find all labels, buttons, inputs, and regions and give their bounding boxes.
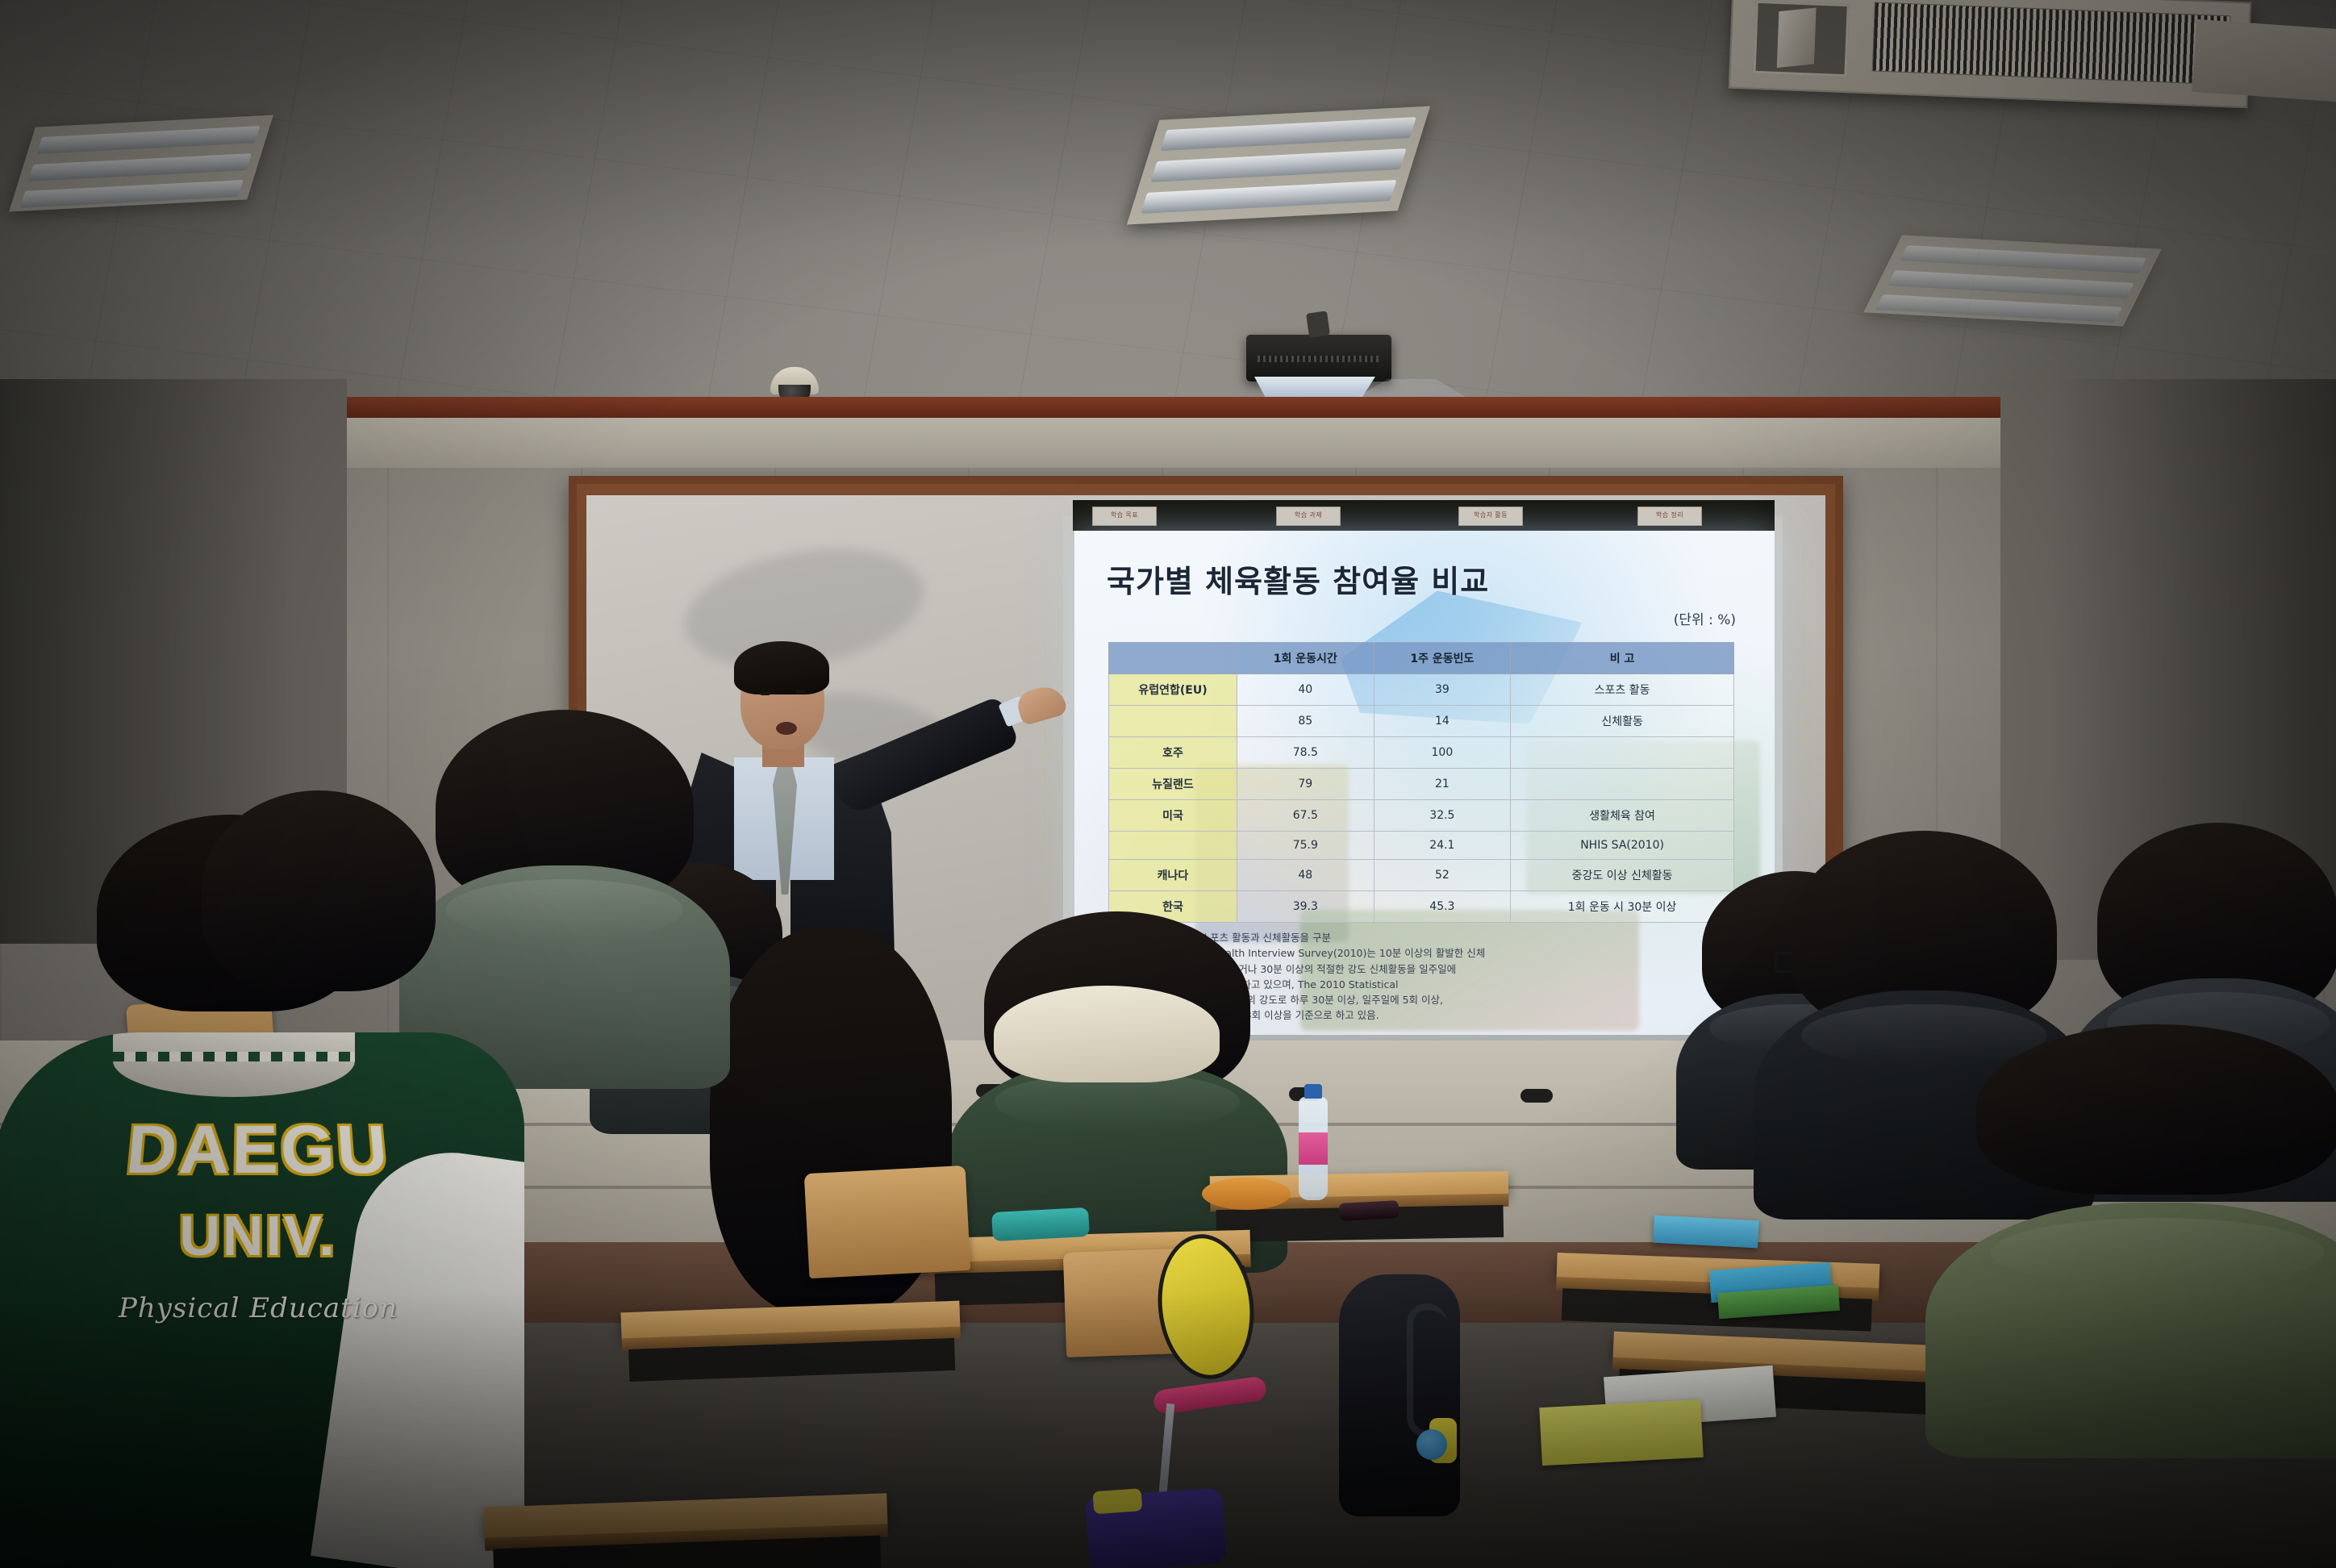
fluorescent-light-fixture-right bbox=[1863, 235, 2162, 326]
water-bottle[interactable] bbox=[1299, 1097, 1328, 1200]
slide-title: 국가별 체육활동 참여율 비교 bbox=[1107, 557, 1489, 601]
bottle-label bbox=[1299, 1132, 1328, 1165]
table-cell-value: 75.9 bbox=[1237, 832, 1374, 860]
mobile-phone[interactable] bbox=[1338, 1200, 1399, 1221]
presenter-hair bbox=[734, 641, 829, 694]
varsity-jacket: DAEGU UNIV. Physical Education bbox=[0, 1032, 524, 1568]
table-cell-value: 중강도 이상 신체활동 bbox=[1511, 860, 1734, 891]
wall-accent-band bbox=[0, 397, 2336, 418]
table-cell-value: 52 bbox=[1374, 860, 1511, 891]
projector-icon bbox=[1246, 335, 1391, 382]
ceiling-panel-right bbox=[2192, 19, 2336, 102]
table-cell-country: 캐나다 bbox=[1109, 860, 1237, 891]
table-cell-value bbox=[1511, 737, 1734, 769]
varsity-text-line2: UNIV. bbox=[0, 1203, 524, 1268]
table-cell-value: 1회 운동 시 30분 이상 bbox=[1511, 891, 1734, 923]
table-cell-country: 뉴질랜드 bbox=[1109, 769, 1237, 800]
table-cell-country: 유럽연합(EU) bbox=[1109, 674, 1237, 706]
table-cell-value: 39 bbox=[1374, 674, 1511, 706]
table-cell-value: NHIS SA(2010) bbox=[1511, 832, 1734, 860]
board-tab-label: 학습 목표 bbox=[1093, 507, 1156, 523]
fluorescent-light-fixture-left bbox=[9, 115, 273, 211]
table-cell-value: 스포츠 활동 bbox=[1511, 674, 1734, 706]
projector-mount bbox=[1306, 311, 1330, 337]
purple-bag[interactable] bbox=[1085, 1487, 1227, 1568]
table-cell-value: 신체활동 bbox=[1511, 706, 1734, 737]
parka-fur-hood bbox=[994, 986, 1220, 1082]
cabinet-handle[interactable] bbox=[1520, 1089, 1553, 1103]
slide-unit-note: (단위 : %) bbox=[1674, 608, 1736, 628]
wall-upper-strip bbox=[0, 418, 2336, 468]
board-tab: 학습 목표 bbox=[1092, 507, 1157, 526]
table-row: 캐나다4852중강도 이상 신체활동 bbox=[1109, 860, 1734, 891]
table-cell-value: 100 bbox=[1374, 737, 1511, 769]
table-cell-value: 78.5 bbox=[1237, 737, 1374, 769]
table-row: 미국67.532.5생활체육 참여 bbox=[1109, 800, 1734, 832]
notebook-blue-side bbox=[1653, 1216, 1759, 1249]
board-tab: 학습 정리 bbox=[1637, 507, 1702, 526]
table-header-row: 1회 운동시간 1주 운동빈도 비 고 bbox=[1109, 643, 1734, 674]
table-cell-country: 호주 bbox=[1109, 737, 1237, 769]
varsity-collar bbox=[113, 1032, 355, 1097]
table-cell-value: 67.5 bbox=[1237, 800, 1374, 832]
classroom-photo: 학습 목표 학습 과제 학습자 활동 학습 정리 국가별 체육활동 참여율 비교… bbox=[0, 0, 2336, 1568]
table-cell-country bbox=[1109, 706, 1237, 737]
varsity-text-line1: DAEGU bbox=[0, 1111, 524, 1190]
board-tab-strip: 학습 목표 학습 과제 학습자 활동 학습 정리 bbox=[1073, 500, 1775, 531]
table-cell-country bbox=[1109, 832, 1237, 860]
board-tab-label: 학습 정리 bbox=[1638, 507, 1701, 523]
chair-back bbox=[804, 1166, 971, 1278]
table-cell-value: 79 bbox=[1237, 769, 1374, 800]
fluorescent-light-fixture-center bbox=[1127, 106, 1430, 224]
keychain-charm bbox=[1429, 1418, 1457, 1463]
table-cell-value: 14 bbox=[1374, 706, 1511, 737]
ac-grille bbox=[1872, 2, 2231, 85]
table-cell-value: 85 bbox=[1237, 706, 1374, 737]
slide-data-table: 1회 운동시간 1주 운동빈도 비 고 유럽연합(EU)4039스포츠 활동85… bbox=[1108, 642, 1734, 923]
table-cell-country: 미국 bbox=[1109, 800, 1237, 832]
backpack[interactable] bbox=[1339, 1274, 1460, 1516]
board-tab-label: 학습자 활동 bbox=[1459, 507, 1522, 523]
student-grey-jacket bbox=[436, 710, 694, 1049]
student-olive-jacket bbox=[1976, 1024, 2336, 1412]
table-row: 호주78.5100 bbox=[1109, 737, 1734, 769]
table-cell-value: 생활체육 참여 bbox=[1511, 800, 1734, 832]
desk-item-teal bbox=[991, 1207, 1090, 1241]
table-cell-value: 48 bbox=[1237, 860, 1374, 891]
presenter-eye bbox=[795, 690, 806, 694]
presenter-pointing-arm bbox=[827, 695, 1020, 817]
table-header-col1: 1회 운동시간 bbox=[1237, 643, 1374, 674]
projector-lens bbox=[1254, 377, 1375, 399]
board-tab: 학습 과제 bbox=[1276, 507, 1341, 526]
table-cell-value: 21 bbox=[1374, 769, 1511, 800]
table-header-note: 비 고 bbox=[1511, 643, 1734, 674]
table-cell-value: 24.1 bbox=[1374, 832, 1511, 860]
notebook-yellow bbox=[1539, 1399, 1703, 1466]
table-header-country bbox=[1109, 643, 1237, 674]
presenter-eye bbox=[760, 691, 770, 695]
projector-vents bbox=[1258, 356, 1379, 362]
table-cell-value: 40 bbox=[1237, 674, 1374, 706]
presenter-mouth bbox=[776, 722, 797, 735]
table-header-col2: 1주 운동빈도 bbox=[1374, 643, 1511, 674]
board-tab-label: 학습 과제 bbox=[1277, 507, 1340, 523]
table-row: 8514신체활동 bbox=[1109, 706, 1734, 737]
table-cell-value: 39.3 bbox=[1237, 891, 1374, 923]
table-cell-value bbox=[1511, 769, 1734, 800]
bottle-cap bbox=[1304, 1084, 1322, 1099]
board-tab: 학습자 활동 bbox=[1458, 507, 1523, 526]
table-row: 75.924.1NHIS SA(2010) bbox=[1109, 832, 1734, 860]
varsity-text-line3: Physical Education bbox=[0, 1292, 524, 1324]
table-row: 유럽연합(EU)4039스포츠 활동 bbox=[1109, 674, 1734, 706]
desk-item-orange bbox=[1202, 1178, 1291, 1210]
table-cell-value: 45.3 bbox=[1374, 891, 1511, 923]
ac-vent-icon bbox=[1753, 1, 1849, 77]
table-row: 뉴질랜드7921 bbox=[1109, 769, 1734, 800]
table-cell-value: 32.5 bbox=[1374, 800, 1511, 832]
